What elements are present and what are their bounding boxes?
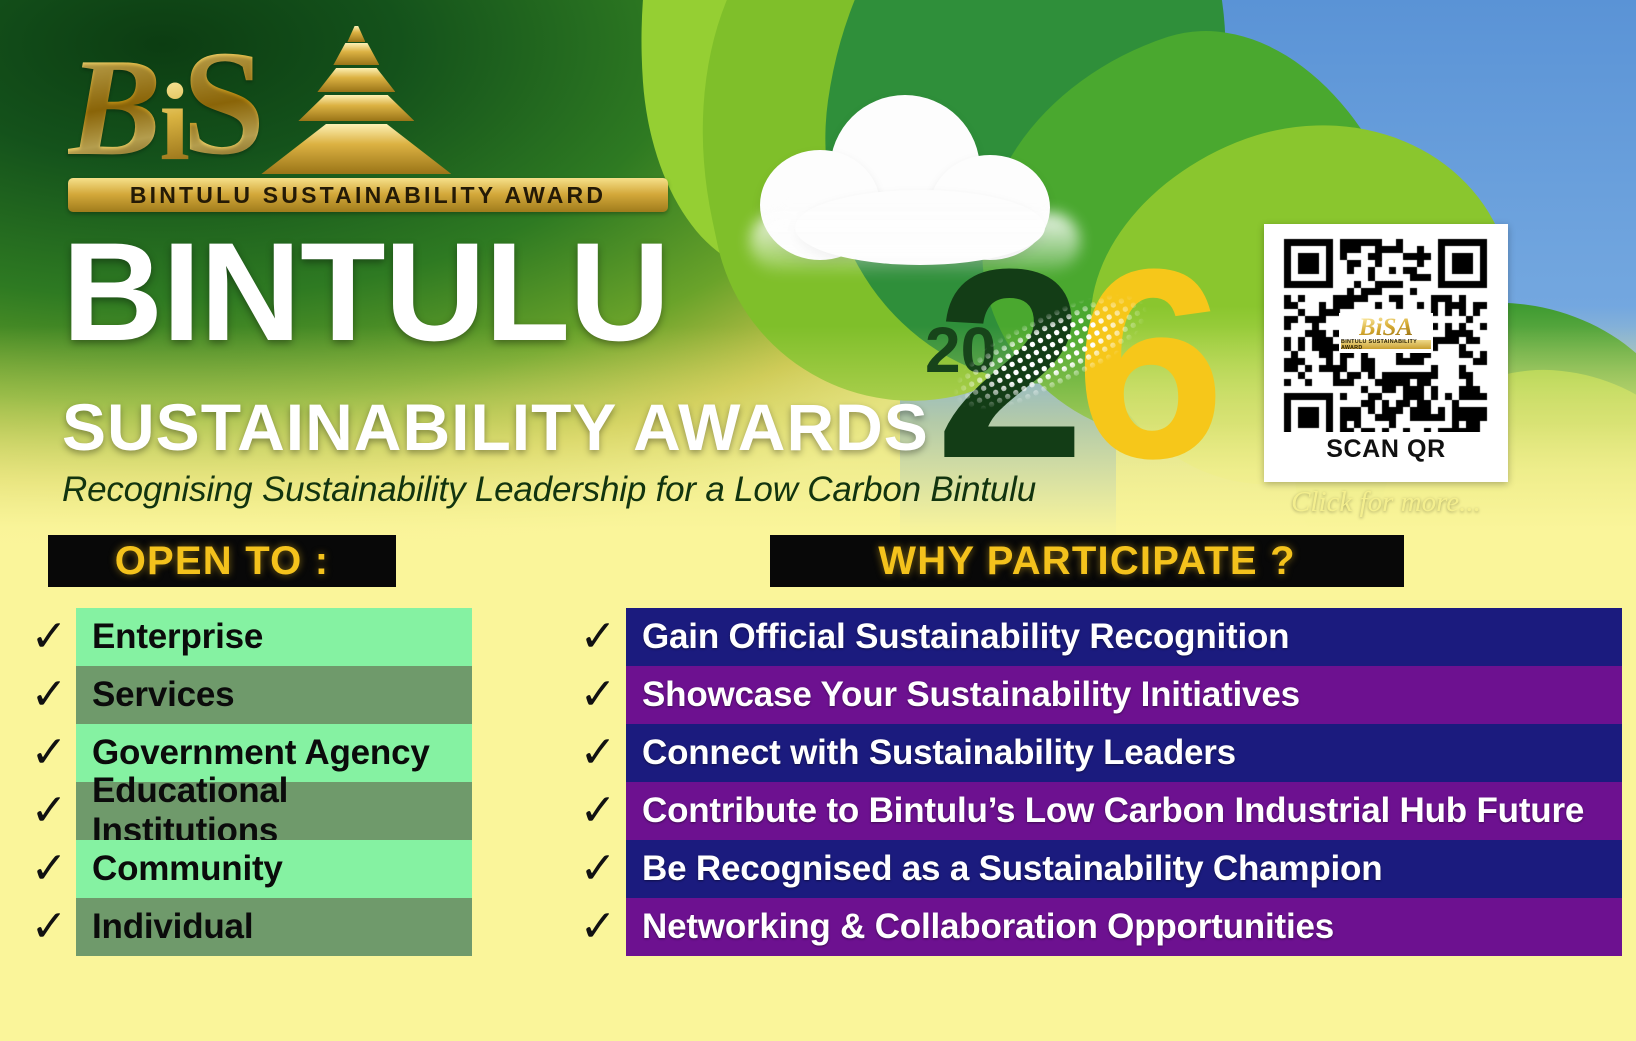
qr-code-card[interactable]: BiSA BINTULU SUSTAINABILITY AWARD SCAN Q… — [1264, 224, 1508, 482]
poster-canvas: B i S BINTULU SUSTAINABILITY AWARD BINTU… — [0, 0, 1636, 1041]
check-icon: ✓ — [570, 666, 626, 724]
why-participate-header: WHY PARTICIPATE ? — [770, 535, 1404, 587]
why-participate-item-label: Showcase Your Sustainability Initiatives — [626, 666, 1622, 724]
open-to-item-label: Individual — [76, 898, 472, 956]
check-icon: ✓ — [22, 724, 76, 782]
list-item: ✓Community — [22, 840, 472, 898]
logo-letter-s: S — [182, 32, 265, 175]
qr-embedded-logo: BiSA BINTULU SUSTAINABILITY AWARD — [1339, 313, 1433, 353]
check-icon: ✓ — [570, 898, 626, 956]
check-icon: ✓ — [570, 782, 626, 840]
tagline: Recognising Sustainability Leadership fo… — [62, 470, 1036, 510]
qr-logo-text: BiSA — [1359, 317, 1413, 340]
page-title: BINTULU — [62, 228, 669, 357]
list-item: ✓Connect with Sustainability Leaders — [570, 724, 1622, 782]
bisa-logo: B i S BINTULU SUSTAINABILITY AWARD — [68, 24, 688, 212]
why-participate-item-label: Contribute to Bintulu’s Low Carbon Indus… — [626, 782, 1622, 840]
list-item: ✓Gain Official Sustainability Recognitio… — [570, 608, 1622, 666]
why-participate-item-label: Connect with Sustainability Leaders — [626, 724, 1622, 782]
why-participate-item-label: Networking & Collaboration Opportunities — [626, 898, 1622, 956]
check-icon: ✓ — [570, 608, 626, 666]
check-icon: ✓ — [22, 898, 76, 956]
logo-letter-i: i — [159, 70, 190, 175]
year-2026-graphic: 2 6 20 — [915, 240, 1215, 500]
why-participate-item-label: Be Recognised as a Sustainability Champi… — [626, 840, 1622, 898]
list-item: ✓Contribute to Bintulu’s Low Carbon Indu… — [570, 782, 1622, 840]
open-to-header: OPEN TO : — [48, 535, 396, 587]
check-icon: ✓ — [22, 666, 76, 724]
logo-wordmark: B i S — [68, 24, 688, 174]
tower-a-icon — [261, 24, 451, 174]
open-to-header-text: OPEN TO : — [115, 539, 330, 584]
list-item: ✓Networking & Collaboration Opportunitie… — [570, 898, 1622, 956]
qr-logo-band: BINTULU SUSTAINABILITY AWARD — [1341, 340, 1431, 349]
qr-code-image[interactable]: BiSA BINTULU SUSTAINABILITY AWARD — [1274, 234, 1498, 432]
list-item: ✓Be Recognised as a Sustainability Champ… — [570, 840, 1622, 898]
why-participate-list: ✓Gain Official Sustainability Recognitio… — [570, 608, 1622, 956]
open-to-item-label: Services — [76, 666, 472, 724]
list-item: ✓Educational Institutions — [22, 782, 472, 840]
why-participate-item-label: Gain Official Sustainability Recognition — [626, 608, 1622, 666]
check-icon: ✓ — [22, 840, 76, 898]
open-to-list: ✓Enterprise✓Services✓Government Agency✓E… — [22, 608, 472, 956]
page-subtitle: SUSTAINABILITY AWARDS — [62, 394, 929, 460]
list-item: ✓Showcase Your Sustainability Initiative… — [570, 666, 1622, 724]
scan-qr-label: SCAN QR — [1274, 435, 1498, 464]
check-icon: ✓ — [22, 782, 76, 840]
open-to-item-label: Community — [76, 840, 472, 898]
list-item: ✓Individual — [22, 898, 472, 956]
list-item: ✓Services — [22, 666, 472, 724]
list-item: ✓Enterprise — [22, 608, 472, 666]
click-for-more-text[interactable]: Click for more... — [1264, 486, 1508, 519]
check-icon: ✓ — [570, 840, 626, 898]
open-to-item-label: Enterprise — [76, 608, 472, 666]
check-icon: ✓ — [22, 608, 76, 666]
logo-banner-text: BINTULU SUSTAINABILITY AWARD — [130, 182, 606, 209]
why-participate-header-text: WHY PARTICIPATE ? — [878, 539, 1295, 584]
check-icon: ✓ — [570, 724, 626, 782]
logo-letter-b: B — [68, 41, 161, 174]
open-to-item-label: Educational Institutions — [76, 782, 472, 840]
